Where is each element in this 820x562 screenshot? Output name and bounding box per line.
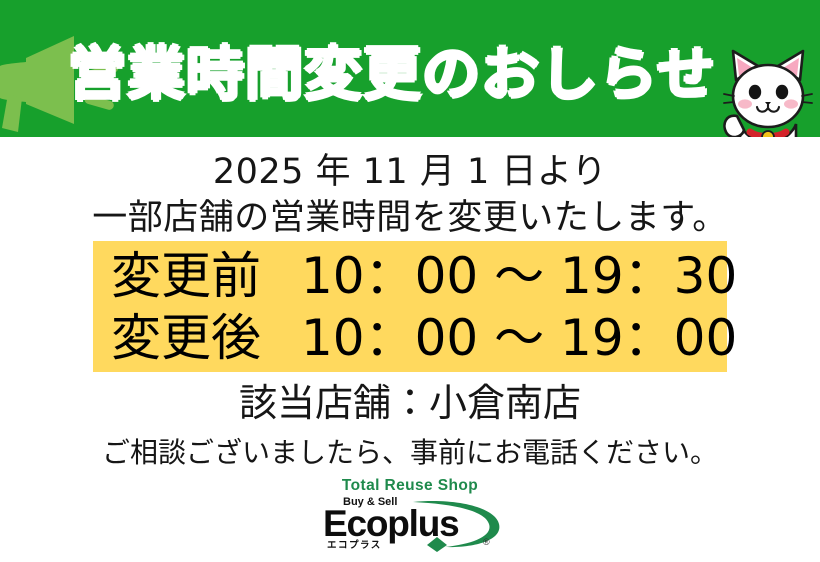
lead-line-1: 2025 年 11 月 1 日より: [0, 149, 820, 195]
logo-tagline: Total Reuse Shop: [315, 477, 505, 495]
hours-highlight-box: 変更前 10：00 ～ 19：30 変更後 10：00 ～ 19：00: [93, 241, 727, 372]
page-title: 営業時間変更のおしらせ: [0, 0, 820, 137]
logo-registered-mark: ®: [483, 537, 490, 547]
hours-value-before: 10：00 ～ 19：30: [301, 245, 737, 307]
cat-mascot-icon: [720, 44, 816, 137]
header-band: 営業時間変更のおしらせ: [0, 0, 820, 137]
body-area: 2025 年 11 月 1 日より 一部店舗の営業時間を変更いたします。 変更前…: [0, 137, 820, 562]
brand-logo-inner: Total Reuse Shop Buy & Sell Ecoplus エコプラ…: [315, 477, 505, 557]
contact-note-line: ご相談ございましたら、事前にお電話ください。: [0, 435, 820, 471]
notice-poster: 営業時間変更のおしらせ: [0, 0, 820, 562]
hours-row-before: 変更前 10：00 ～ 19：30: [111, 245, 713, 307]
hours-value-after: 10：00 ～ 19：00: [301, 307, 737, 369]
hours-label-before: 変更前: [111, 245, 301, 307]
hours-label-after: 変更後: [111, 307, 301, 369]
logo-kana: エコプラス: [327, 537, 382, 551]
hours-row-after: 変更後 10：00 ～ 19：00: [111, 307, 713, 369]
lead-line-2: 一部店舗の営業時間を変更いたします。: [0, 195, 820, 241]
lead-paragraph: 2025 年 11 月 1 日より 一部店舗の営業時間を変更いたします。: [0, 149, 820, 241]
brand-logo: Total Reuse Shop Buy & Sell Ecoplus エコプラ…: [0, 477, 820, 557]
target-store-line: 該当店舗：小倉南店: [0, 380, 820, 426]
